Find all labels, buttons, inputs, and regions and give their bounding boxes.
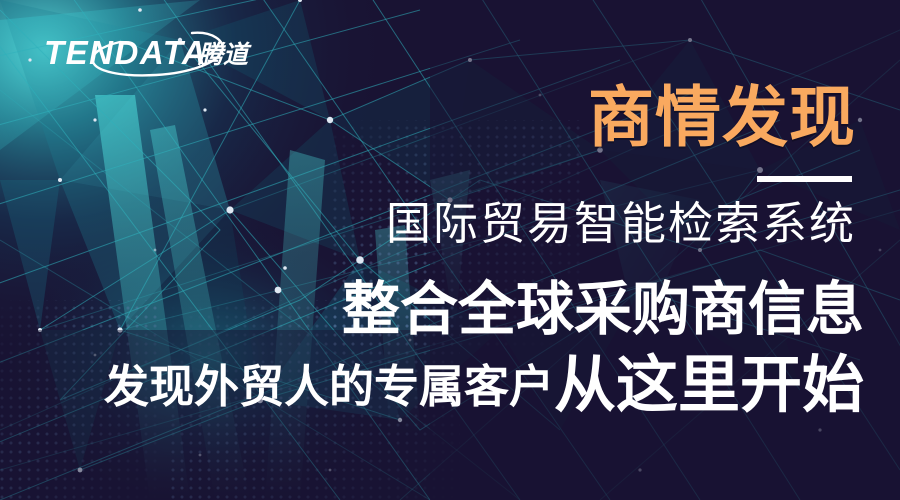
subtitle: 国际贸易智能检索系统	[386, 201, 856, 246]
promo-banner: TENDATA 腾道 商情发现 国际贸易智能检索系统 整合全球采购商信息 发现外…	[0, 0, 900, 500]
headline: 整合全球采购商信息	[342, 281, 864, 339]
logo-chinese-text: 腾道	[197, 40, 252, 69]
logo-wordmark-text: TENDATA	[44, 34, 207, 71]
page-title: 商情发现	[588, 84, 856, 150]
tendata-logo-svg: TENDATA 腾道	[40, 27, 265, 77]
title-divider-rule	[757, 176, 852, 182]
tagline-emphasis-text: 从这里开始	[554, 355, 864, 417]
tagline: 发现外贸人的专属客户 从这里开始	[104, 351, 864, 413]
tagline-small-text: 发现外贸人的专属客户	[104, 364, 554, 409]
brand-logo[interactable]: TENDATA 腾道	[40, 30, 265, 74]
